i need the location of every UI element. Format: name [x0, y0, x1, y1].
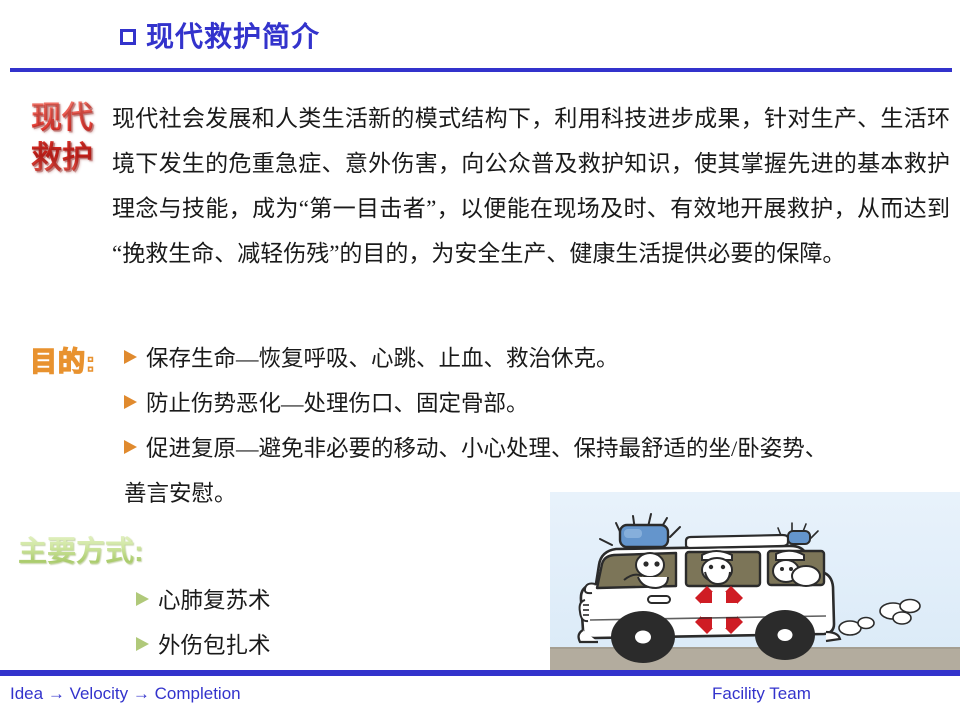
arrow-right-icon [136, 637, 149, 651]
arrow-right-icon [136, 592, 149, 606]
footer-divider [0, 670, 960, 676]
page-title: 现代救护简介 [120, 18, 320, 56]
wordart-line-2: 救护 [16, 138, 108, 178]
footer-part-velocity: Velocity [70, 684, 129, 703]
list-item: 外伤包扎术 [136, 623, 516, 668]
arrow-right-icon: → [133, 684, 150, 703]
list-item-label: 外伤包扎术 [158, 633, 271, 658]
purpose-list: 保存生命—恢复呼吸、心跳、止血、救治休克。 防止伤势恶化—处理伤口、固定骨部。 … [124, 336, 954, 516]
footer-part-completion: Completion [155, 684, 241, 703]
slide-header: 现代救护简介 [0, 18, 960, 62]
red-cross-icon [695, 586, 743, 634]
list-item-label: 促进复原—避免非必要的移动、小心处理、保持最舒适的坐/卧姿势、 [146, 436, 827, 461]
slide-canvas: 现代救护简介 现代 救护 现代社会发展和人类生活新的模式结构下，利用科技进步成果… [0, 0, 960, 720]
footer-part-idea: Idea [10, 684, 43, 703]
header-divider [10, 68, 952, 72]
wordart-purpose-label: 目的: [30, 340, 96, 379]
list-item: 防止伤势恶化—处理伤口、固定骨部。 [124, 381, 954, 426]
footer-left-text: Idea → Velocity → Completion [10, 684, 241, 704]
list-item: 促进复原—避免非必要的移动、小心处理、保持最舒适的坐/卧姿势、 [124, 426, 954, 471]
footer-right-text: Facility Team [712, 684, 811, 704]
page-title-text: 现代救护简介 [146, 21, 320, 52]
list-item: 保存生命—恢复呼吸、心跳、止血、救治休克。 [124, 336, 954, 381]
ambulance-illustration [550, 492, 960, 674]
ambulance-svg [550, 492, 960, 674]
wordart-line-1: 现代 [16, 98, 108, 138]
wordart-methods-label: 主要方式: [18, 528, 144, 570]
arrow-right-icon [124, 440, 137, 454]
list-item-label: 防止伤势恶化—处理伤口、固定骨部。 [146, 391, 529, 416]
square-outline-icon [120, 29, 136, 45]
arrow-right-icon: → [48, 684, 65, 703]
wordart-xiandai-jiuhu: 现代 救护 [16, 98, 108, 178]
list-item-label: 心肺复苏术 [158, 588, 271, 613]
arrow-right-icon [124, 350, 137, 364]
intro-paragraph: 现代社会发展和人类生活新的模式结构下，利用科技进步成果，针对生产、生活环境下发生… [112, 96, 950, 276]
arrow-right-icon [124, 395, 137, 409]
list-item: 心肺复苏术 [136, 578, 516, 623]
list-item-label: 保存生命—恢复呼吸、心跳、止血、救治休克。 [146, 346, 619, 371]
methods-list: 心肺复苏术 外伤包扎术 [136, 578, 516, 668]
